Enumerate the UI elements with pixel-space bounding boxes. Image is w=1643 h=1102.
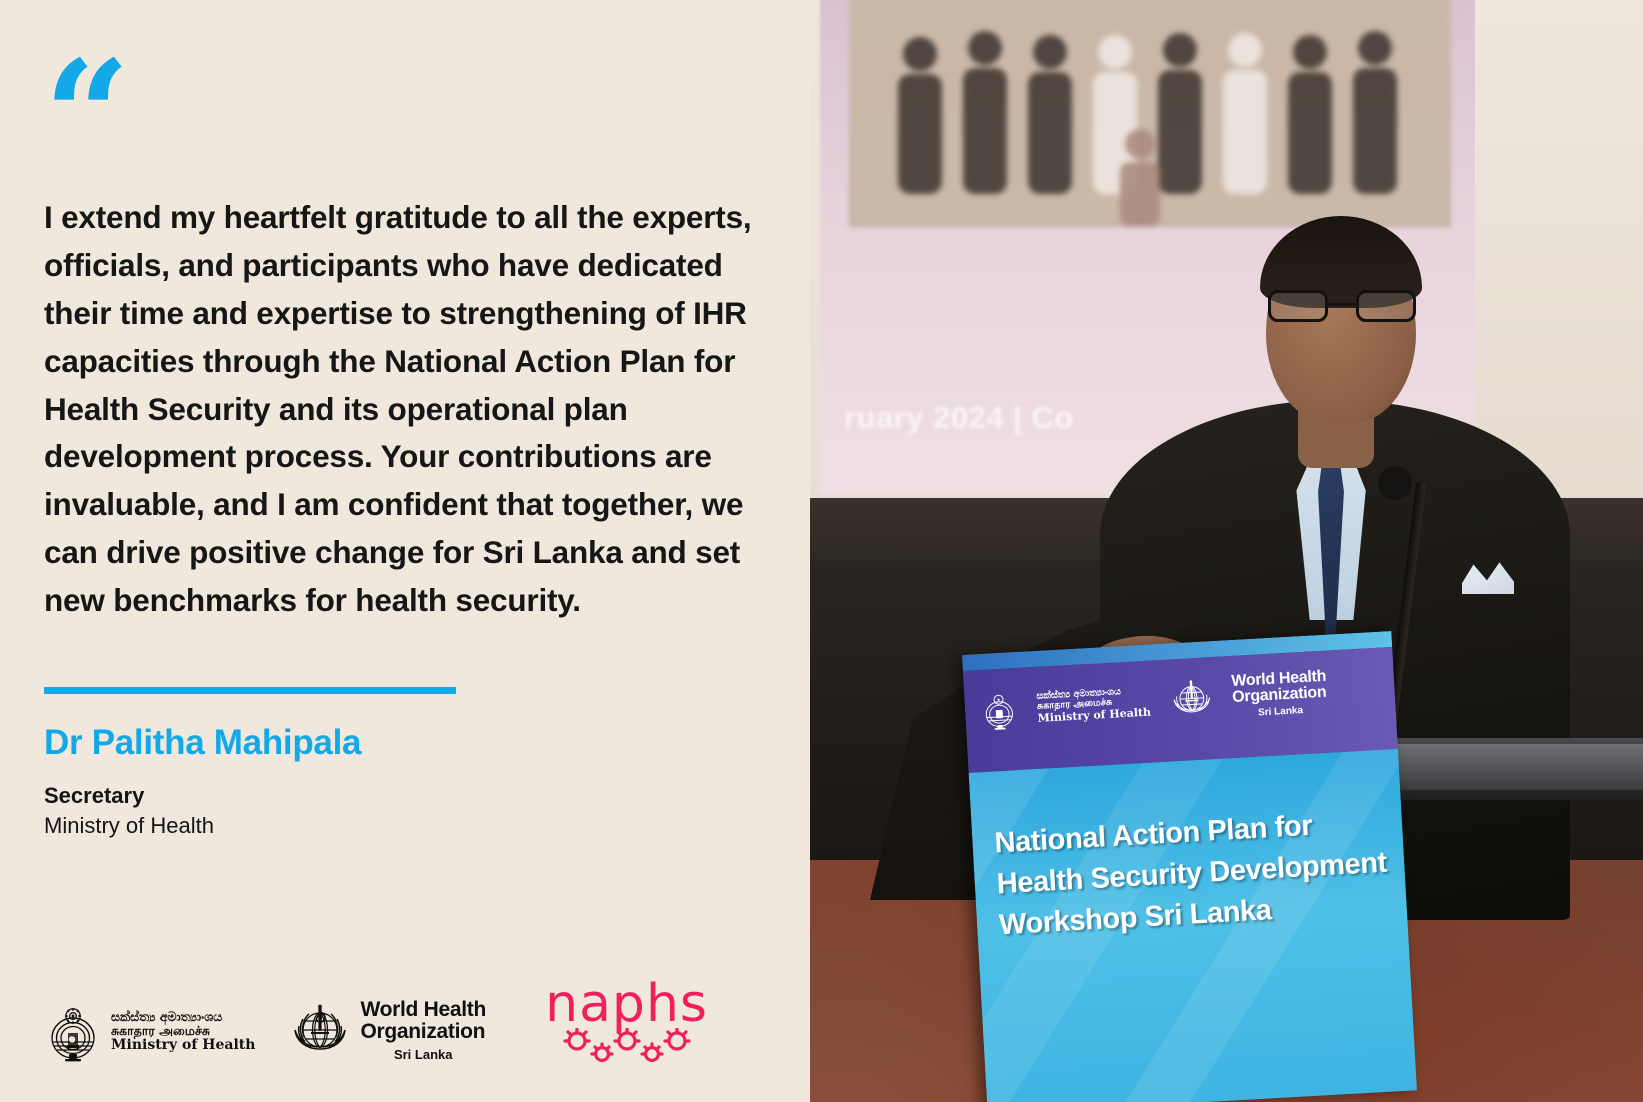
who-label-line3: Sri Lanka bbox=[360, 1047, 486, 1062]
naphs-wordmark: naphs bbox=[545, 981, 708, 1028]
banner-sri-lanka-emblem-icon bbox=[978, 687, 1020, 733]
microphone-head-icon bbox=[1378, 466, 1412, 500]
naphs-gears-icon bbox=[556, 1028, 698, 1062]
ministry-of-health-logo: සක්ස්ත්‍ය අමාත්‍යාංශය சுகாதார அமைச்சு Mi… bbox=[44, 1002, 255, 1062]
ministry-label-sinhala: සක්ස්ත්‍ය අමාත්‍යාංශය bbox=[111, 1010, 255, 1024]
who-label: World Health Organization Sri Lanka bbox=[360, 999, 486, 1062]
ministry-label-tamil: சுகாதார அமைச்சு bbox=[111, 1024, 255, 1038]
banner-ministry-label: සක්ස්ත්‍ය අමාත්‍යාංශය சுகாதார அமைச்சு Mi… bbox=[1036, 685, 1151, 724]
speaker-organization: Ministry of Health bbox=[44, 811, 764, 841]
banner-who-line2: Organization bbox=[1232, 685, 1328, 707]
speaker-photo: ruary 2024 | Co bbox=[810, 0, 1643, 1102]
glasses-bridge bbox=[1328, 303, 1356, 306]
banner-who-emblem-icon bbox=[1167, 676, 1215, 722]
quote-text: I extend my heartfelt gratitude to all t… bbox=[44, 194, 764, 625]
glasses-left-lens bbox=[1268, 290, 1328, 322]
speaker-name: Dr Palitha Mahipala bbox=[44, 723, 764, 763]
laptop-screen bbox=[1368, 744, 1643, 790]
ministry-label-english: Ministry of Health bbox=[111, 1038, 255, 1054]
speaker-role: Secretary bbox=[44, 781, 764, 811]
laptop bbox=[1360, 738, 1643, 800]
who-label-line1: World Health bbox=[360, 999, 486, 1021]
open-quote-icon: “ bbox=[44, 62, 764, 148]
glasses-right-lens bbox=[1356, 290, 1416, 322]
eyeglasses-icon bbox=[1266, 290, 1418, 324]
ministry-of-health-label: සක්ස්ත්‍ය අමාත්‍යාංශය சுகாதார அமைச்சு Mi… bbox=[111, 1010, 255, 1054]
banner-who-label: World Health Organization Sri Lanka bbox=[1231, 669, 1328, 720]
naphs-logo: naphs bbox=[545, 981, 708, 1062]
slide-caption-text: ruary 2024 | Co bbox=[844, 400, 1074, 436]
quote-card: “ I extend my heartfelt gratitude to all… bbox=[0, 0, 1643, 1102]
divider-rule bbox=[44, 687, 456, 694]
quote-panel: “ I extend my heartfelt gratitude to all… bbox=[0, 0, 810, 1102]
sri-lanka-government-emblem-icon bbox=[44, 1002, 102, 1062]
footer-logo-row: සක්ස්ත්‍ය අමාත්‍යාංශය சுகாதார அமைச்சு Mi… bbox=[44, 981, 770, 1062]
who-logo: World Health Organization Sri Lanka bbox=[289, 999, 486, 1062]
who-emblem-icon bbox=[289, 1002, 351, 1060]
who-label-line2: Organization bbox=[360, 1021, 486, 1043]
banner-title-text: National Action Plan for Health Security… bbox=[993, 801, 1397, 947]
podium-banner: සක්ස්ත්‍ය අමාත්‍යාංශය சுகாதார அமைச்சு Mi… bbox=[962, 631, 1417, 1102]
